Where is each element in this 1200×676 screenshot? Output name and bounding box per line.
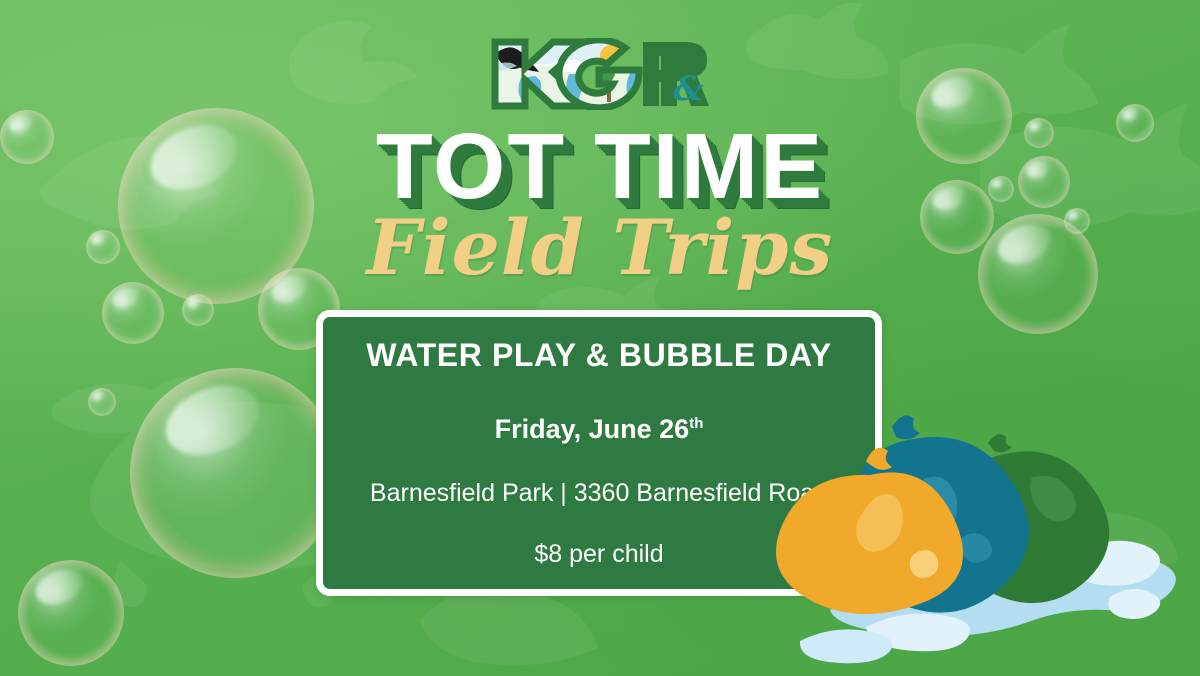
title-block: TOT TIME Field Trips [0, 122, 1200, 210]
logo-ampersand: & [673, 69, 704, 109]
event-date-suffix: th [689, 415, 703, 432]
event-flyer: & TOT TIME Field Trips WATER PLAY & BUBB… [0, 0, 1200, 676]
kgpr-logo: & [0, 38, 1200, 110]
event-headline: WATER PLAY & BUBBLE DAY [323, 337, 875, 374]
page-subtitle: Field Trips [0, 210, 1200, 286]
water-balloons-illustration [770, 405, 1200, 676]
event-date-text: Friday, June 26 [495, 414, 690, 444]
page-title: TOT TIME [0, 122, 1200, 210]
